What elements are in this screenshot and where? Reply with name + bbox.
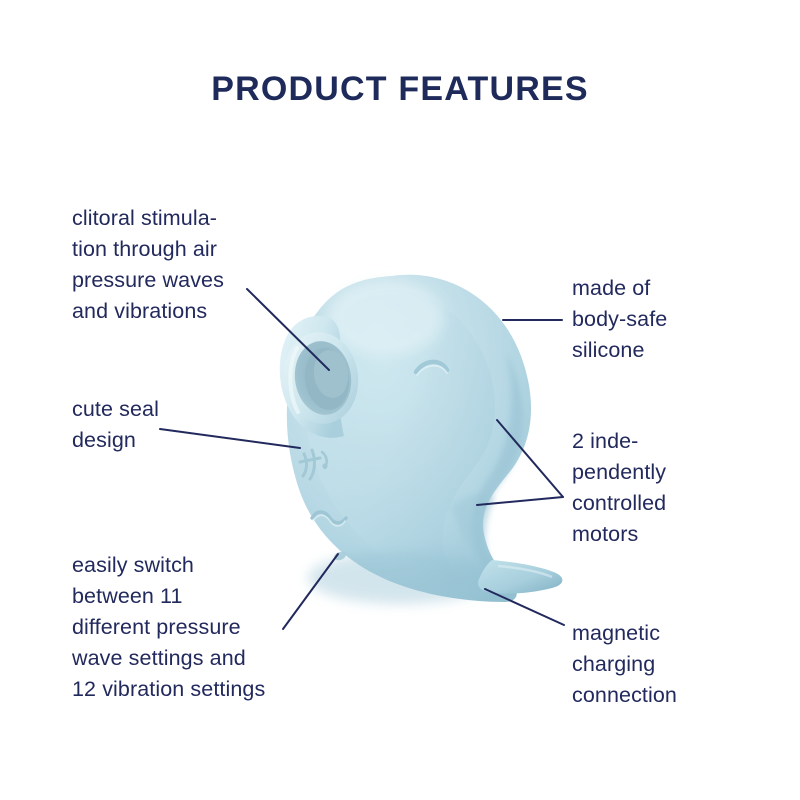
body-sheen (328, 280, 444, 356)
tail-fin (478, 560, 562, 594)
product-features-infographic: PRODUCT FEATURES clitoral stimula- tion … (0, 0, 800, 800)
product-illustration (0, 0, 800, 800)
body-bottom-shadow (308, 552, 492, 604)
